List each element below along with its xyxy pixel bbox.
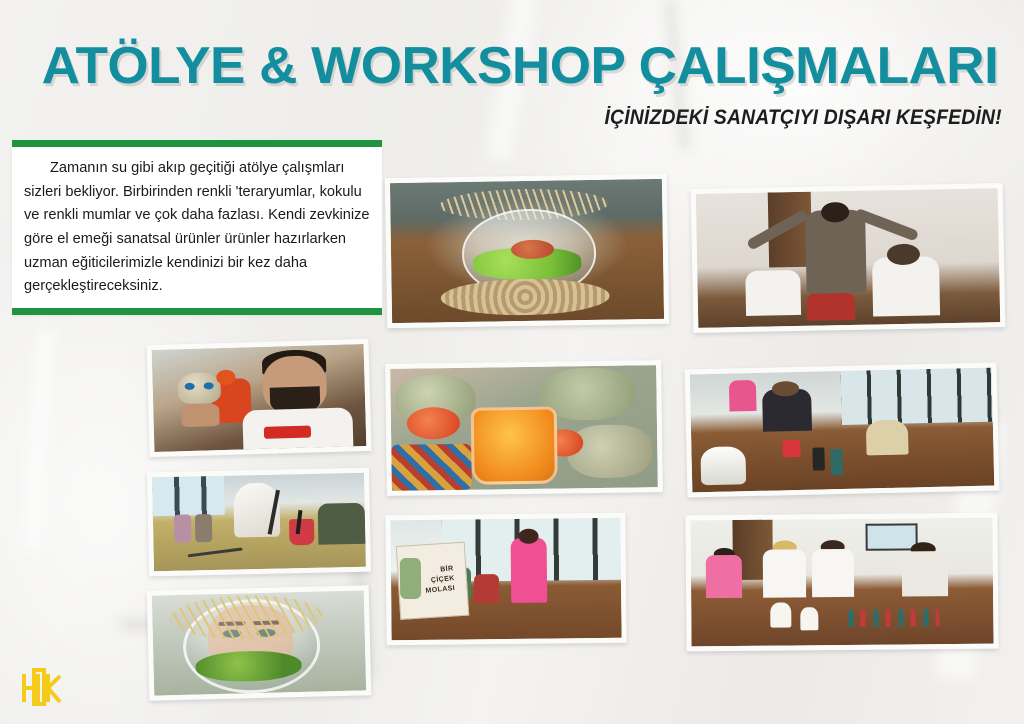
intro-text-box: Zamanın su gibi akıp geçitiği atölye çal…: [12, 140, 382, 315]
poster-canvas: ATÖLYE & WORKSHOP ÇALIŞMALARI İÇİNİZDEKİ…: [0, 0, 1024, 724]
photo-painted-skull: [146, 339, 371, 457]
texture-streak: [22, 330, 55, 551]
sign-line-3: MOLASI: [425, 584, 455, 597]
page-title: ATÖLYE & WORKSHOP ÇALIŞMALARI: [39, 40, 1002, 92]
photo-terrarium-jar: [385, 174, 669, 328]
photo-flower-break-sign: BİR ÇİÇEK MOLASI: [385, 513, 626, 646]
photo-succulents-drink: [385, 360, 663, 496]
photo-instructor-group: [691, 183, 1006, 333]
photo-group-workshop: [685, 513, 998, 652]
hk-monogram-icon: [14, 660, 66, 712]
hk-logo: [14, 660, 66, 712]
photo-painting-table: [685, 362, 1000, 497]
photo-globe-terrarium: [147, 585, 372, 700]
intro-paragraph: Zamanın su gibi akıp geçitiği atölye çal…: [24, 157, 370, 299]
page-subtitle: İÇİNİZDEKİ SANATÇIYI DIŞARI KEŞFEDİN!: [605, 106, 1002, 130]
photo-sculpture-bust: [147, 468, 371, 577]
